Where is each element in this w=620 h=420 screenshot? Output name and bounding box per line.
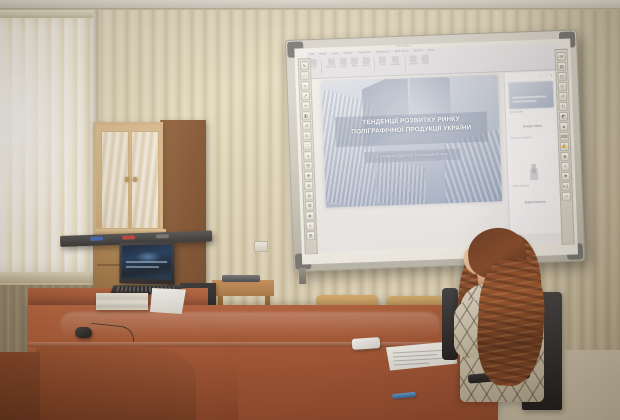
shade-tool-icon[interactable]: ◧ bbox=[302, 111, 311, 120]
arrow-tool-icon[interactable]: ↗ bbox=[301, 91, 310, 100]
paragraph-icon bbox=[392, 56, 399, 63]
cabinet-handle-right[interactable] bbox=[133, 177, 137, 182]
ribbon-group-reset[interactable]: Reset bbox=[351, 57, 358, 67]
editing-icon bbox=[422, 55, 429, 62]
pane-secondary-heading: Right Reserve bbox=[509, 199, 561, 205]
pane-heading: Design Ideas bbox=[506, 123, 558, 129]
tab-slideshow[interactable]: Slide Show bbox=[395, 49, 409, 53]
thumbnail-line bbox=[512, 95, 546, 98]
new-slide-icon bbox=[327, 58, 334, 65]
wall-socket[interactable] bbox=[254, 241, 268, 252]
marker-pen-black[interactable] bbox=[156, 234, 169, 238]
tab-transitions[interactable]: Transitions bbox=[357, 51, 371, 55]
ribbon-label: New Slide bbox=[326, 66, 336, 68]
ribbon-label: Paste bbox=[311, 67, 317, 69]
ribbon-label: Reset bbox=[352, 65, 358, 67]
ribbon-separator bbox=[404, 56, 406, 72]
see-more-designs-link[interactable]: See more designs bbox=[511, 136, 532, 140]
redo-icon[interactable]: ↻ bbox=[558, 102, 567, 111]
menu-icon[interactable]: ☰ bbox=[303, 161, 312, 170]
pen-tool-icon[interactable]: ✎ bbox=[300, 61, 309, 70]
page-tool-icon[interactable]: ⬚ bbox=[303, 141, 312, 150]
desk-side-panel bbox=[0, 352, 40, 420]
ribbon-group-section[interactable]: Section bbox=[362, 57, 370, 67]
smartphone[interactable] bbox=[352, 337, 381, 350]
stacked-books[interactable] bbox=[96, 293, 148, 310]
keyboard-icon[interactable]: ⌨ bbox=[560, 132, 569, 141]
ribbon-separator bbox=[374, 57, 376, 73]
tab-home[interactable]: Home bbox=[319, 52, 326, 55]
drawing-icon bbox=[410, 55, 417, 62]
tab-view[interactable]: View bbox=[428, 49, 434, 52]
shape-tool-icon[interactable]: ◈ bbox=[305, 211, 314, 220]
paper-line bbox=[393, 350, 443, 354]
shape-icon[interactable]: ◈ bbox=[560, 152, 569, 161]
marker-pen-red[interactable] bbox=[122, 235, 135, 239]
ribbon-label: Editing bbox=[422, 63, 429, 65]
marker-pen-blue[interactable] bbox=[90, 236, 103, 240]
sparkle-tool-icon[interactable]: ✲ bbox=[304, 181, 313, 190]
window-controls[interactable]: — □ ✕ bbox=[539, 73, 553, 78]
ribbon-label: Paragraph bbox=[390, 64, 401, 66]
undo-icon[interactable]: ↺ bbox=[302, 121, 311, 130]
write-icon[interactable]: ✍ bbox=[560, 142, 569, 151]
projected-screen[interactable]: Presentation File Home Insert Design Tra… bbox=[306, 43, 565, 252]
pane-note: Select a layout bbox=[512, 183, 558, 188]
reset-icon bbox=[351, 57, 358, 64]
tab-insert[interactable]: Insert bbox=[331, 52, 338, 55]
paper-line bbox=[393, 363, 429, 366]
star-tool-icon[interactable]: ❖ bbox=[304, 171, 313, 180]
document-icon[interactable]: ⎘ bbox=[558, 82, 567, 91]
ribbon-group-layout[interactable]: Layout bbox=[340, 58, 347, 68]
command-tool-icon[interactable]: ⌘ bbox=[305, 201, 314, 210]
ribbon-group-drawing[interactable]: Drawing bbox=[409, 55, 418, 65]
ribbon-label: Drawing bbox=[410, 63, 419, 65]
screen-line bbox=[126, 261, 167, 263]
slide-footer: Slide 1 bbox=[330, 202, 338, 205]
slide-canvas[interactable]: ТЕНДЕНЦІЇ РОЗВИТКУ РИНКУ ПОЛІГРАФІЧНОЇ П… bbox=[322, 75, 502, 207]
desk-front-panel bbox=[36, 346, 196, 420]
side-stand bbox=[212, 280, 274, 296]
ribbon-group-font[interactable]: Font bbox=[379, 56, 386, 66]
triangle-icon[interactable]: ▲ bbox=[559, 122, 568, 131]
ribbon-label: Section bbox=[362, 65, 370, 67]
table-icon[interactable]: ▤ bbox=[557, 62, 566, 71]
paper-line bbox=[393, 358, 445, 362]
seated-viewer bbox=[452, 228, 562, 420]
tab-animations[interactable]: Animations bbox=[376, 50, 390, 54]
laptop-screen[interactable] bbox=[122, 244, 171, 279]
thumbnail-caption: Design Idea bbox=[510, 109, 556, 114]
screen-line bbox=[126, 266, 159, 268]
presenter-laptop[interactable] bbox=[119, 241, 174, 284]
frame-tool-icon[interactable]: ⊞ bbox=[306, 231, 315, 240]
app-title: Presentation bbox=[396, 44, 411, 48]
contrast-tool-icon[interactable]: ◑ bbox=[303, 151, 312, 160]
thumbnail-line bbox=[512, 100, 536, 102]
tab-review[interactable]: Review bbox=[414, 49, 423, 52]
ribbon-group-editing[interactable]: Editing bbox=[422, 55, 429, 65]
presentation-room-photo: Presentation File Home Insert Design Tra… bbox=[0, 0, 620, 420]
design-ideas-pane[interactable]: — □ ✕ Design Idea Design Ideas See more … bbox=[503, 71, 562, 235]
ribbon-separator bbox=[321, 59, 323, 75]
section-icon bbox=[362, 57, 369, 64]
flag-icon[interactable]: ⚑ bbox=[561, 172, 570, 181]
calibrate-k1-icon[interactable]: K1 bbox=[561, 182, 570, 191]
tab-design[interactable]: Design bbox=[343, 52, 352, 55]
shade-icon[interactable]: ◩ bbox=[559, 112, 568, 121]
design-thumbnail[interactable] bbox=[509, 81, 554, 109]
font-icon bbox=[379, 56, 386, 63]
layout-icon bbox=[340, 58, 347, 65]
tab-file[interactable]: File bbox=[309, 53, 314, 56]
glass-door-cabinet[interactable] bbox=[93, 122, 163, 235]
redo-icon[interactable]: ↻ bbox=[302, 131, 311, 140]
circle-tool-icon[interactable]: ○ bbox=[301, 81, 310, 90]
ribbon-label: Font bbox=[380, 64, 385, 66]
settings-icon[interactable]: ⌗ bbox=[562, 192, 571, 201]
ribbon-group-new-slide[interactable]: New Slide bbox=[326, 58, 337, 68]
blind-rail[interactable] bbox=[0, 10, 98, 18]
grid-icon[interactable]: ⌗ bbox=[561, 162, 570, 171]
whiteboard-mount bbox=[299, 268, 307, 284]
paper-line bbox=[393, 354, 437, 357]
grid-tool-icon[interactable]: ⌗ bbox=[306, 221, 315, 230]
daylight-glow bbox=[0, 30, 80, 240]
rectangle-tool-icon[interactable]: □ bbox=[300, 71, 309, 80]
cut-tool-icon[interactable]: ✂ bbox=[301, 101, 310, 110]
document-holder[interactable] bbox=[150, 288, 186, 314]
pane-illustration-icon bbox=[530, 164, 539, 180]
split-screen-icon[interactable]: ◰ bbox=[557, 72, 566, 81]
mail-icon[interactable]: ✉ bbox=[557, 52, 566, 61]
ribbon-group-paragraph[interactable]: Paragraph bbox=[390, 56, 401, 66]
ribbon-label: Layout bbox=[340, 66, 347, 68]
copy-tool-icon[interactable]: ⧉ bbox=[305, 191, 314, 200]
undo-icon[interactable]: ↺ bbox=[558, 92, 567, 101]
power-strip[interactable] bbox=[222, 275, 260, 282]
ribbon-groups[interactable]: Paste New Slide Layout bbox=[310, 55, 430, 75]
cabinet-handle-left[interactable] bbox=[125, 177, 129, 182]
